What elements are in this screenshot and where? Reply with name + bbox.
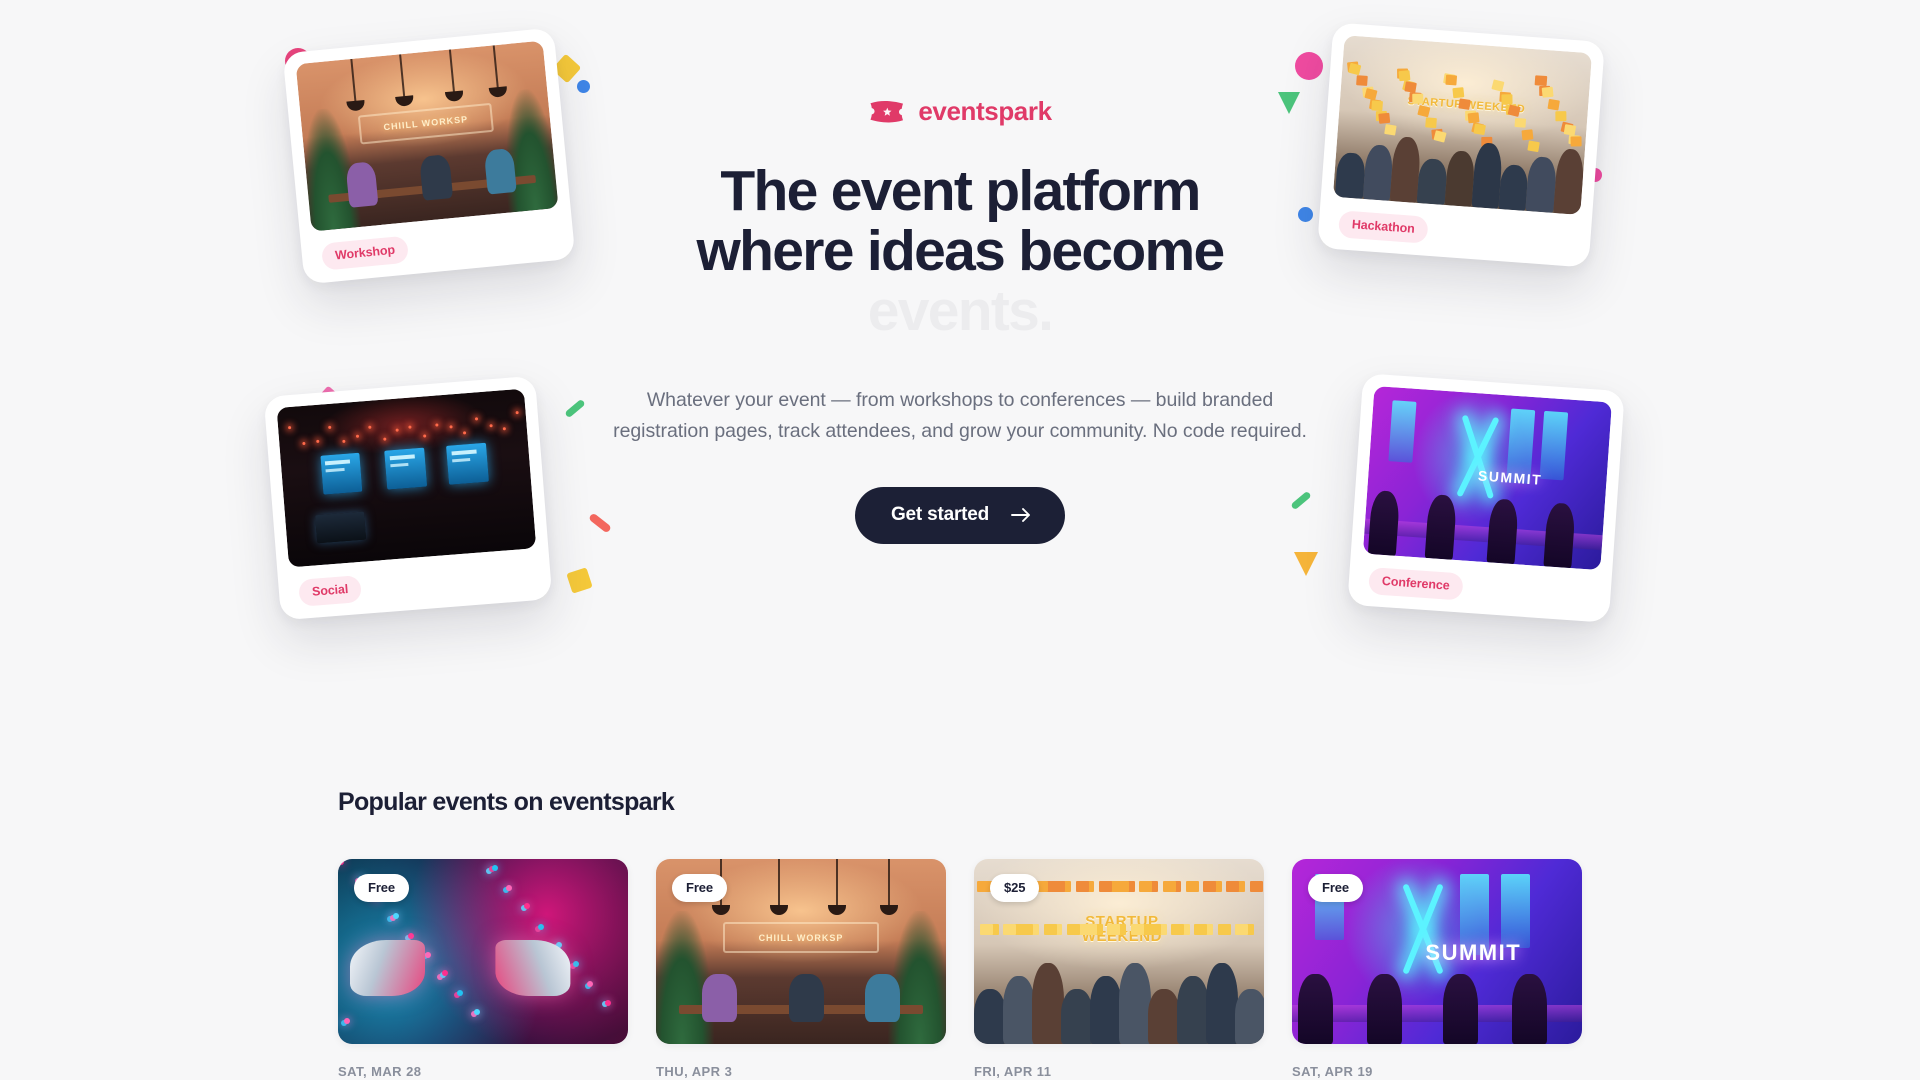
event-card-image: STARTUP WEEKEND$25 — [974, 859, 1264, 1044]
headline-line-1: The event platform — [590, 161, 1330, 221]
string-light-icon — [489, 424, 492, 427]
network-node-icon — [393, 913, 399, 919]
sticky-note-icon — [1203, 881, 1216, 892]
sticky-note-icon — [1131, 924, 1144, 935]
sticky-note-icon — [1235, 924, 1248, 935]
sticky-note-icon — [1003, 924, 1016, 935]
sticky-note-icon — [1452, 87, 1464, 98]
sticky-note-icon — [1226, 881, 1239, 892]
person-silhouette — [1335, 152, 1366, 199]
sticky-note-icon — [1067, 924, 1080, 935]
string-light-icon — [356, 434, 359, 437]
sticky-note-icon — [1378, 112, 1390, 123]
event-grid: FreeSAT, MAR 28AI in the...CHIILL WORKSP… — [338, 859, 1582, 1080]
event-price-badge: Free — [1308, 874, 1363, 902]
person-silhouette — [1417, 158, 1448, 205]
string-light-icon — [475, 417, 478, 420]
sticky-note-icon — [1044, 924, 1057, 935]
event-card-image: SUMMITFree — [1292, 859, 1582, 1044]
event-card[interactable]: CHIILL WORKSPFreeTHU, APR 3Chill colab..… — [656, 859, 946, 1080]
sticky-note-icon — [1425, 117, 1437, 128]
sticky-note-icon — [980, 924, 993, 935]
event-card[interactable]: FreeSAT, MAR 28AI in the... — [338, 859, 628, 1080]
hero-card-tag-social: Social — [298, 574, 362, 606]
person-silhouette — [974, 989, 1006, 1045]
event-price-badge: $25 — [990, 874, 1039, 902]
sticky-note-icon — [1148, 924, 1161, 935]
person-silhouette — [1526, 156, 1557, 213]
confetti-square-icon — [566, 567, 592, 593]
event-price-badge: Free — [672, 874, 727, 902]
person-silhouette — [1499, 164, 1530, 211]
confetti-bar-icon — [564, 399, 585, 419]
network-node-icon — [425, 952, 431, 958]
sticky-note-icon — [1084, 924, 1097, 935]
person-silhouette — [1235, 989, 1264, 1045]
person-silhouette — [1177, 976, 1209, 1044]
hero-card-conference-image: SUMMIT — [1363, 386, 1612, 570]
string-light-icon — [328, 426, 331, 429]
sticky-note-icon — [1515, 118, 1527, 129]
sticky-note-icon — [1107, 924, 1120, 935]
person-silhouette — [1119, 963, 1151, 1044]
page-title: The event platform where ideas become ev… — [590, 161, 1330, 341]
hero-card-workshop-image: CHIILL WORKSP — [296, 41, 559, 232]
network-node-icon — [408, 933, 414, 939]
person-silhouette — [1553, 148, 1585, 215]
string-light-icon — [316, 440, 319, 443]
network-node-icon — [605, 1000, 611, 1006]
confetti-circle-icon — [1295, 52, 1323, 80]
network-node-icon — [573, 961, 579, 967]
hero-card-tag-hackathon: Hackathon — [1338, 210, 1429, 243]
ticket-icon — [868, 99, 906, 125]
hero-section: CHIILL WORKSP Workshop STARTUP WEEKEND — [0, 0, 1920, 740]
sticky-note-icon — [1356, 75, 1368, 86]
hero-card-workshop[interactable]: CHIILL WORKSP Workshop — [283, 27, 576, 284]
hero-card-tag-workshop: Workshop — [321, 235, 409, 270]
sticky-note-icon — [1446, 75, 1458, 86]
hero-card-tag-conference: Conference — [1368, 567, 1463, 600]
person-silhouette — [1061, 989, 1093, 1045]
string-light-icon — [463, 431, 466, 434]
sticky-note-icon — [1521, 129, 1533, 140]
get-started-label: Get started — [891, 504, 989, 526]
sticky-note-icon — [1163, 881, 1176, 892]
sticky-note-icon — [1535, 75, 1547, 86]
network-node-icon — [506, 885, 512, 891]
network-node-icon — [338, 859, 344, 865]
string-light-icon — [503, 428, 506, 431]
sticky-note-icon — [1458, 98, 1471, 109]
person-silhouette — [1090, 976, 1122, 1044]
person-silhouette — [1148, 989, 1180, 1045]
hero-card-conference[interactable]: SUMMIT Conference — [1347, 373, 1625, 623]
event-price-badge: Free — [354, 874, 409, 902]
person-silhouette — [1003, 976, 1035, 1044]
event-card-image: CHIILL WORKSPFree — [656, 859, 946, 1044]
person-silhouette — [1032, 963, 1064, 1044]
string-light-icon — [343, 440, 346, 443]
network-node-icon — [442, 970, 448, 976]
sticky-note-icon — [1364, 88, 1377, 100]
hero-card-social-image — [277, 389, 537, 568]
sticky-note-icon — [1186, 881, 1199, 892]
sticky-note-icon — [1527, 141, 1540, 152]
sticky-note-icon — [1384, 124, 1397, 135]
network-node-icon — [492, 865, 498, 871]
sticky-note-icon — [1052, 881, 1065, 892]
sticky-note-icon — [977, 881, 990, 892]
sticky-note-icon — [1116, 881, 1129, 892]
event-card[interactable]: STARTUP WEEKEND$25FRI, APR 11Startup wee… — [974, 859, 1264, 1080]
event-date: FRI, APR 11 — [974, 1064, 1264, 1079]
string-light-icon — [409, 425, 412, 428]
hero-card-social[interactable]: Social — [264, 376, 553, 621]
sticky-note-icon — [1474, 124, 1487, 135]
event-card[interactable]: SUMMITFreeSAT, APR 19Mix media summit — [1292, 859, 1582, 1080]
sticky-note-icon — [1548, 98, 1561, 109]
network-node-icon — [587, 981, 593, 987]
person-silhouette — [1206, 963, 1238, 1044]
sticky-note-icon — [1555, 111, 1566, 121]
network-node-icon — [457, 990, 463, 996]
confetti-circle-icon — [577, 80, 590, 93]
string-light-icon — [368, 426, 371, 429]
sticky-note-icon — [1468, 112, 1480, 123]
string-light-icon — [435, 423, 438, 426]
string-light-icon — [383, 438, 386, 441]
hero-subhead: Whatever your event — from workshops to … — [590, 385, 1330, 447]
brand-logo[interactable]: eventspark — [590, 96, 1330, 127]
headline-line-2: where ideas become — [590, 221, 1330, 281]
popular-events-section: Popular events on eventspark FreeSAT, MA… — [0, 788, 1920, 1080]
human-hand-icon — [495, 940, 570, 996]
sticky-note-icon — [1218, 924, 1231, 935]
sticky-note-icon — [1502, 94, 1513, 104]
sticky-note-icon — [1563, 124, 1576, 135]
headline-line-3: events. — [590, 281, 1330, 341]
sticky-note-icon — [1433, 130, 1446, 142]
event-date: SAT, MAR 28 — [338, 1064, 628, 1079]
workshop-photo-sign: CHIILL WORKSP — [358, 103, 494, 144]
sticky-note-icon — [1372, 101, 1384, 112]
sticky-note-icon — [1194, 924, 1207, 935]
event-date: SAT, APR 19 — [1292, 1064, 1582, 1079]
sticky-note-icon — [1099, 881, 1112, 892]
get-started-button[interactable]: Get started — [855, 487, 1065, 544]
sticky-note-icon — [1250, 881, 1263, 892]
sticky-note-icon — [1171, 924, 1184, 935]
hero-card-hackathon-image: STARTUP WEEKEND — [1333, 35, 1592, 215]
popular-events-title: Popular events on eventspark — [338, 788, 1582, 817]
sticky-note-icon — [1412, 94, 1423, 104]
sticky-note-icon — [1139, 881, 1152, 892]
sticky-note-icon — [1020, 924, 1033, 935]
arrow-right-icon — [1011, 507, 1031, 523]
brand-name: eventspark — [918, 96, 1051, 127]
hero-content: eventspark The event platform where idea… — [590, 96, 1330, 544]
string-light-icon — [449, 425, 452, 428]
event-date: THU, APR 3 — [656, 1064, 946, 1079]
string-light-icon — [303, 442, 306, 445]
sticky-note-icon — [1571, 137, 1582, 147]
hero-card-hackathon[interactable]: STARTUP WEEKEND Hackathon — [1317, 22, 1605, 267]
sticky-note-icon — [1399, 70, 1411, 81]
robot-hand-icon — [350, 940, 425, 996]
sticky-note-icon — [1076, 881, 1089, 892]
network-node-icon — [344, 1018, 350, 1024]
network-node-icon — [524, 903, 530, 909]
network-node-icon — [474, 1009, 480, 1015]
string-light-icon — [423, 435, 426, 438]
string-light-icon — [396, 429, 399, 432]
event-card-image: Free — [338, 859, 628, 1044]
sticky-note-icon — [1542, 87, 1554, 98]
string-light-icon — [515, 411, 518, 414]
landing-page: CHIILL WORKSP Workshop STARTUP WEEKEND — [0, 0, 1920, 1080]
person-silhouette — [1363, 144, 1394, 201]
network-node-icon — [538, 924, 544, 930]
string-light-icon — [288, 426, 291, 429]
person-silhouette — [1444, 150, 1475, 207]
sticky-note-icon — [1349, 62, 1362, 74]
confetti-tri-icon — [1294, 552, 1318, 576]
